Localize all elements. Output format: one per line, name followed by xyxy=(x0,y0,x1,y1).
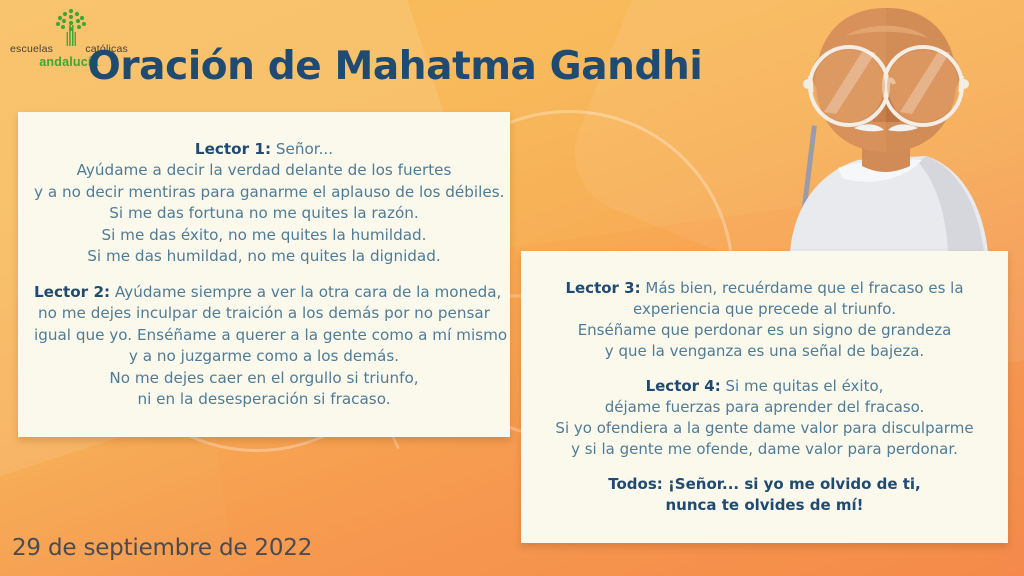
prayer-line: Enséñame que perdonar es un signo de gra… xyxy=(537,320,992,341)
prayer-line: igual que yo. Enséñame a querer a la gen… xyxy=(34,325,494,347)
prayer-line: Si me das éxito, no me quites la humilda… xyxy=(34,225,494,247)
prayer-line: Si me das humildad, no me quites la dign… xyxy=(34,246,494,268)
prayer-line: no me dejes inculpar de traición a los d… xyxy=(34,303,494,325)
reading-block-lector-3: Lector 3: Más bien, recuérdame que el fr… xyxy=(537,278,992,362)
slide-canvas: escuelas católicas andalucía Oración de … xyxy=(0,0,1024,576)
prayer-line: Lector 3: Más bien, recuérdame que el fr… xyxy=(537,278,992,299)
prayer-line: Lector 1: Señor... xyxy=(34,139,494,161)
tree-icon xyxy=(54,8,88,46)
prayer-line: y si la gente me ofende, dame valor para… xyxy=(537,439,992,460)
page-title: Oración de Mahatma Gandhi xyxy=(0,44,790,89)
prayer-line-text: Ayúdame siempre a ver la otra cara de la… xyxy=(110,283,501,301)
reading-block-lector-4: Lector 4: Si me quitas el éxito, déjame … xyxy=(537,376,992,460)
speaker-label-lector-4: Lector 4: xyxy=(646,377,721,395)
prayer-line: y a no juzgarme como a los demás. xyxy=(34,346,494,368)
prayer-line: Ayúdame a decir la verdad delante de los… xyxy=(34,160,494,182)
prayer-line-text: Más bien, recuérdame que el fracaso es l… xyxy=(641,279,964,297)
closing-block-todos: Todos: ¡Señor... si yo me olvido de ti, … xyxy=(537,474,992,516)
reading-block-lector-1: Lector 1: Señor... Ayúdame a decir la ve… xyxy=(34,139,494,268)
speaker-label-lector-1: Lector 1: xyxy=(195,140,271,158)
prayer-line: Lector 2: Ayúdame siempre a ver la otra … xyxy=(34,282,494,304)
prayer-card-left: Lector 1: Señor... Ayúdame a decir la ve… xyxy=(18,112,510,437)
reading-block-lector-2: Lector 2: Ayúdame siempre a ver la otra … xyxy=(34,282,494,411)
prayer-line: y que la venganza es una señal de bajeza… xyxy=(537,341,992,362)
prayer-line: Si yo ofendiera a la gente dame valor pa… xyxy=(537,418,992,439)
prayer-line: ni en la desesperación si fracaso. xyxy=(34,389,494,411)
date-label: 29 de septiembre de 2022 xyxy=(12,535,312,561)
prayer-line-text: Señor... xyxy=(271,140,333,158)
prayer-card-right: Lector 3: Más bien, recuérdame que el fr… xyxy=(521,251,1008,543)
speaker-label-lector-2: Lector 2: xyxy=(34,283,110,301)
speaker-label-lector-3: Lector 3: xyxy=(565,279,640,297)
prayer-line-text: Si me quitas el éxito, xyxy=(721,377,884,395)
closing-line: Todos: ¡Señor... si yo me olvido de ti, xyxy=(537,474,992,495)
gandhi-portrait-illustration xyxy=(750,0,1024,252)
prayer-line: Lector 4: Si me quitas el éxito, xyxy=(537,376,992,397)
prayer-line: déjame fuerzas para aprender del fracaso… xyxy=(537,397,992,418)
prayer-line: Si me das fortuna no me quites la razón. xyxy=(34,203,494,225)
prayer-line: y a no decir mentiras para ganarme el ap… xyxy=(34,182,494,204)
prayer-line: No me dejes caer en el orgullo si triunf… xyxy=(34,368,494,390)
prayer-line: experiencia que precede al triunfo. xyxy=(537,299,992,320)
closing-line: nunca te olvides de mí! xyxy=(537,495,992,516)
